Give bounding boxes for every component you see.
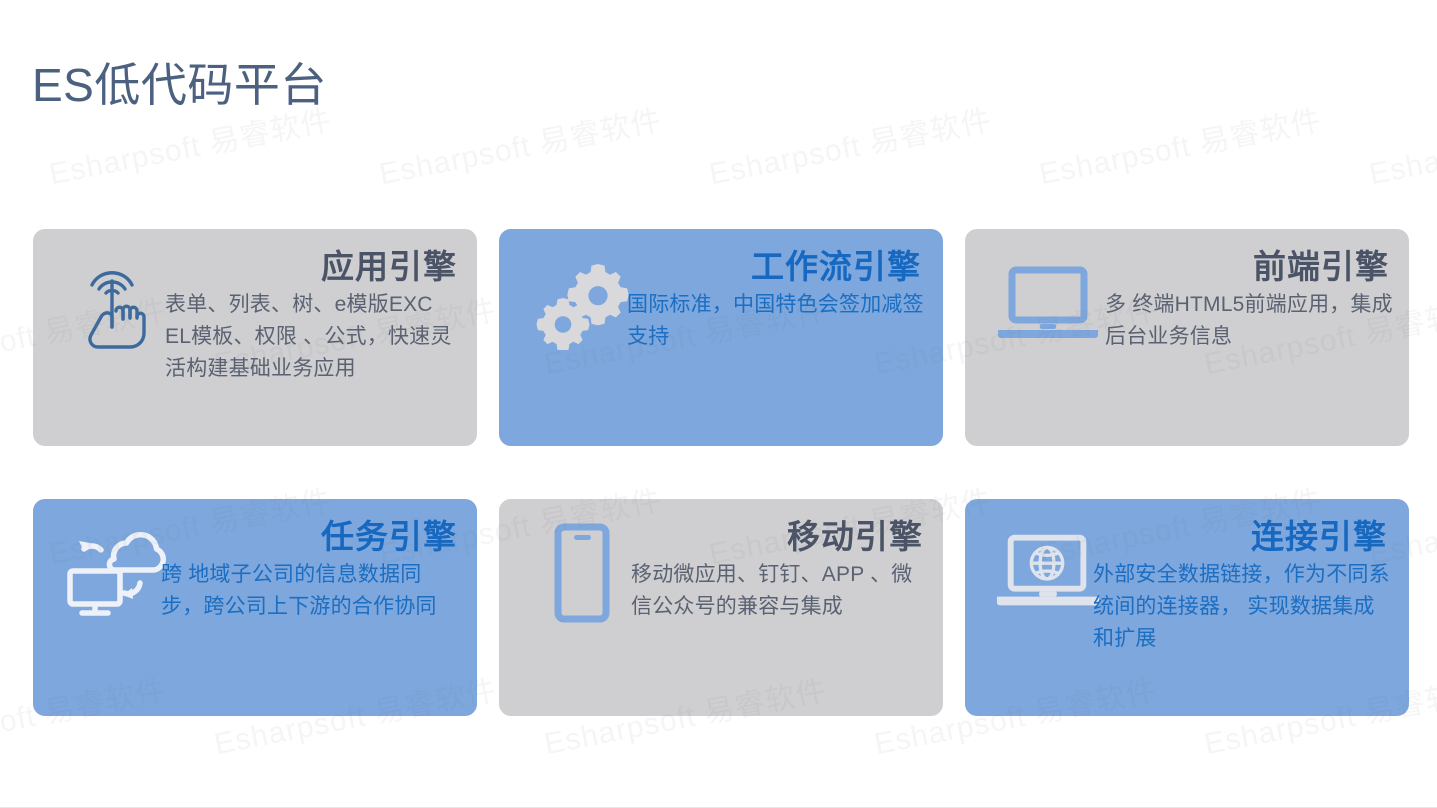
card-description: 跨 地域子公司的信息数据同步，跨公司上下游的合作协同 xyxy=(161,559,463,623)
card-body-app-engine: 应用引擎 表单、列表、树、e模版EXC EL模板、权限 、公式，快速灵 活构建基… xyxy=(161,247,463,436)
card-title: 应用引擎 xyxy=(161,247,457,287)
card-title: 工作流引擎 xyxy=(627,247,921,287)
smartphone-icon xyxy=(527,521,637,625)
card-description: 多 终端HTML5前端应用，集成后台业务信息 xyxy=(1105,289,1395,353)
engine-card-grid: 应用引擎 表单、列表、树、e模版EXC EL模板、权限 、公式，快速灵 活构建基… xyxy=(33,229,1405,716)
page-title: ES低代码平台 xyxy=(32,49,327,115)
card-description: 移动微应用、钉钉、APP 、微信公众号的兼容与集成 xyxy=(631,559,929,623)
card-mobile-engine[interactable]: 移动引擎 移动微应用、钉钉、APP 、微信公众号的兼容与集成 xyxy=(499,499,943,716)
cloud-sync-monitor-icon xyxy=(61,521,171,625)
card-body-mobile-engine: 移动引擎 移动微应用、钉钉、APP 、微信公众号的兼容与集成 xyxy=(627,517,929,706)
card-title: 前端引擎 xyxy=(1093,247,1389,287)
laptop-icon xyxy=(993,251,1103,355)
card-frontend-engine[interactable]: 前端引擎 多 终端HTML5前端应用，集成后台业务信息 xyxy=(965,229,1409,446)
card-workflow-engine[interactable]: 工作流引擎 国际标准，中国特色会签加减签支持 xyxy=(499,229,943,446)
card-task-engine[interactable]: 任务引擎 跨 地域子公司的信息数据同步，跨公司上下游的合作协同 xyxy=(33,499,477,716)
card-body-frontend-engine: 前端引擎 多 终端HTML5前端应用，集成后台业务信息 xyxy=(1093,247,1395,436)
card-description: 国际标准，中国特色会签加减签支持 xyxy=(627,289,929,353)
card-title: 连接引擎 xyxy=(1093,517,1387,557)
gears-icon xyxy=(527,251,637,355)
card-body-workflow-engine: 工作流引擎 国际标准，中国特色会签加减签支持 xyxy=(627,247,929,436)
card-body-task-engine: 任务引擎 跨 地域子公司的信息数据同步，跨公司上下游的合作协同 xyxy=(161,517,463,706)
touch-hand-icon xyxy=(61,251,171,355)
card-body-connection-engine: 连接引擎 外部安全数据链接，作为不同系统间的连接器， 实现数据集成和扩展 xyxy=(1093,517,1395,706)
card-description: 表单、列表、树、e模版EXC EL模板、权限 、公式，快速灵 活构建基础业务应用 xyxy=(165,289,463,385)
card-app-engine[interactable]: 应用引擎 表单、列表、树、e模版EXC EL模板、权限 、公式，快速灵 活构建基… xyxy=(33,229,477,446)
slide-canvas: ES低代码平台 应用引擎 xyxy=(0,0,1437,808)
card-description: 外部安全数据链接，作为不同系统间的连接器， 实现数据集成和扩展 xyxy=(1093,559,1395,655)
card-connection-engine[interactable]: 连接引擎 外部安全数据链接，作为不同系统间的连接器， 实现数据集成和扩展 xyxy=(965,499,1409,716)
card-title: 任务引擎 xyxy=(161,517,457,557)
card-title: 移动引擎 xyxy=(627,517,923,557)
laptop-globe-icon xyxy=(993,521,1103,625)
